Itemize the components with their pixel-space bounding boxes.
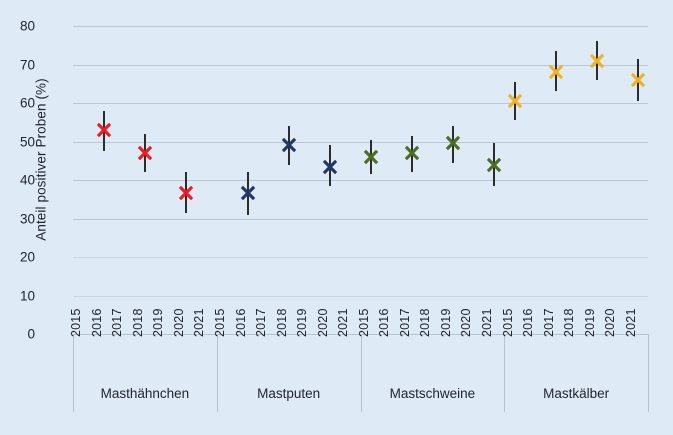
group-label-mastkälber: Mastkälber [543,386,609,401]
category-separator [361,334,362,412]
x-tick-label-masthähnchen-2018: 2018 [131,308,145,337]
error-bar [514,82,516,121]
x-tick-label-mastkälber-2019: 2019 [583,308,597,337]
error-bar [637,59,639,101]
category-separator [504,334,505,412]
x-tick-label-mastputen-2016: 2016 [234,308,248,337]
x-tick-label-mastschweine-2020: 2020 [459,308,473,337]
y-tick-label-80: 80 [1,19,35,34]
x-tick-label-mastputen-2018: 2018 [275,308,289,337]
category-separator [217,334,218,412]
gridline-50 [73,142,648,143]
x-tick-label-mastschweine-2018: 2018 [418,308,432,337]
gridline-10 [73,296,648,297]
gridline-40 [73,180,648,181]
error-bar [411,136,413,173]
y-tick-label-0: 0 [1,327,35,342]
group-label-masthähnchen: Masthähnchen [101,386,190,401]
plot-area: 01020304050607080 [73,26,648,334]
y-tick-label-10: 10 [1,288,35,303]
group-label-mastschweine: Mastschweine [390,386,476,401]
gridline-60 [73,103,648,104]
gridline-80 [73,26,648,27]
x-tick-label-masthähnchen-2017: 2017 [110,308,124,337]
error-bar [596,41,598,80]
chart-root: Anteil positiver Proben (%) 010203040506… [0,0,673,435]
x-tick-label-mastkälber-2016: 2016 [521,308,535,337]
x-tick-label-mastkälber-2020: 2020 [603,308,617,337]
error-bar [185,172,187,212]
error-bar [288,126,290,165]
x-tick-label-mastputen-2019: 2019 [295,308,309,337]
x-tick-label-masthähnchen-2015: 2015 [69,308,83,337]
y-tick-label-60: 60 [1,96,35,111]
y-tick-label-20: 20 [1,250,35,265]
x-tick-label-mastputen-2017: 2017 [254,308,268,337]
error-bar [370,140,372,175]
error-bar [144,134,146,173]
x-tick-label-mastkälber-2018: 2018 [562,308,576,337]
x-tick-label-mastschweine-2017: 2017 [398,308,412,337]
group-label-mastputen: Mastputen [257,386,320,401]
x-tick-label-mastkälber-2015: 2015 [501,308,515,337]
x-tick-label-mastputen-2021: 2021 [336,308,350,337]
gridline-70 [73,65,648,66]
y-tick-label-40: 40 [1,173,35,188]
error-bar [329,145,331,185]
x-tick-label-mastschweine-2016: 2016 [377,308,391,337]
y-tick-label-50: 50 [1,134,35,149]
x-tick-label-mastschweine-2021: 2021 [480,308,494,337]
x-tick-label-masthähnchen-2019: 2019 [151,308,165,337]
y-axis-title: Anteil positiver Proben (%) [34,15,49,305]
y-tick-label-70: 70 [1,57,35,72]
x-tick-label-mastkälber-2017: 2017 [542,308,556,337]
error-bar [103,111,105,151]
category-axis: 2015201620172018201920202021Masthähnchen… [73,334,648,412]
x-tick-label-mastputen-2020: 2020 [316,308,330,337]
gridline-20 [73,257,648,258]
gridline-30 [73,219,648,220]
error-bar [452,126,454,163]
x-tick-label-masthähnchen-2016: 2016 [90,308,104,337]
x-tick-label-mastkälber-2021: 2021 [624,308,638,337]
x-tick-label-masthähnchen-2021: 2021 [192,308,206,337]
category-separator [648,334,649,412]
error-bar [247,172,249,214]
error-bar [555,51,557,91]
x-tick-label-masthähnchen-2020: 2020 [172,308,186,337]
error-bar [493,143,495,185]
y-tick-label-30: 30 [1,211,35,226]
x-tick-label-mastputen-2015: 2015 [213,308,227,337]
x-tick-label-mastschweine-2015: 2015 [357,308,371,337]
x-tick-label-mastschweine-2019: 2019 [439,308,453,337]
category-separator [73,334,74,412]
